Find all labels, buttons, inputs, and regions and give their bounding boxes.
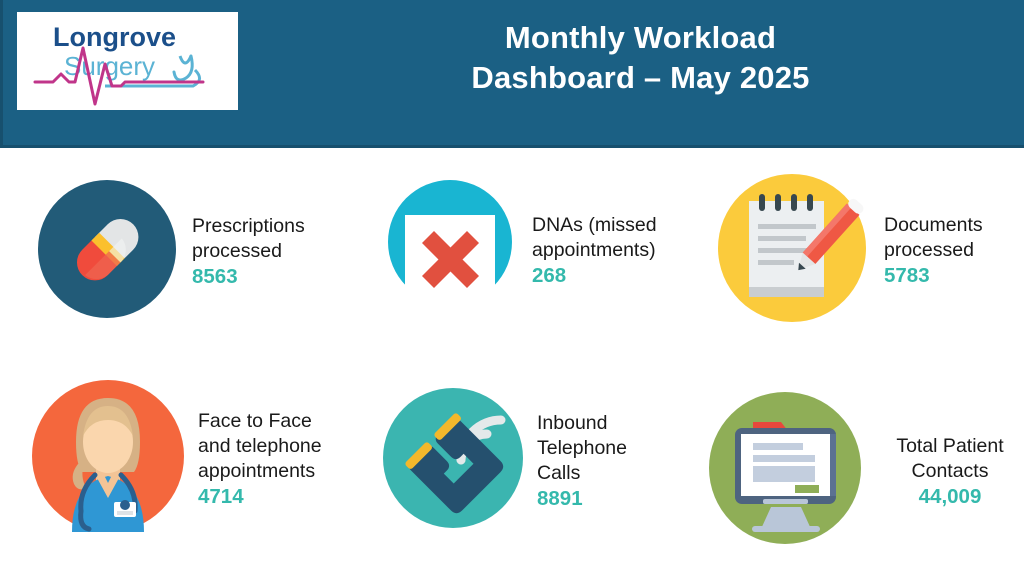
stat-label-line-1: Total Patient <box>882 434 1018 459</box>
header-banner: Longrove Surgery Monthly Workload Dashbo… <box>0 0 1024 148</box>
missed-appointment-x-icon <box>383 180 518 320</box>
stat-label-line-1: Documents <box>884 213 1018 238</box>
stats-grid: Prescriptions processed 8563 DNAs (misse… <box>0 148 1024 576</box>
stat-text-prescriptions: Prescriptions processed 8563 <box>192 214 368 289</box>
logo-word-longrove: Longrove <box>53 22 176 52</box>
page-title-line-2: Dashboard – May 2025 <box>268 58 1013 98</box>
monitor-icon <box>703 386 868 556</box>
stat-label-line-1: DNAs (missed <box>532 213 703 238</box>
stat-text-total-patient-contacts: Total Patient Contacts 44,009 <box>882 434 1018 509</box>
stat-card-total-patient-contacts: Total Patient Contacts 44,009 <box>703 386 1018 556</box>
stat-label-line-2: processed <box>192 239 368 264</box>
page-title-line-1: Monthly Workload <box>268 18 1013 58</box>
stat-text-inbound-calls: Inbound Telephone Calls 8891 <box>537 411 703 511</box>
stat-card-face-to-face: Face to Face and telephone appointments … <box>32 380 372 537</box>
stat-label-line-2: Telephone <box>537 436 703 461</box>
notepad-pencil-icon <box>718 174 866 327</box>
stat-text-dnas: DNAs (missed appointments) 268 <box>532 213 703 288</box>
page-title: Monthly Workload Dashboard – May 2025 <box>268 18 1013 98</box>
stat-value-inbound-calls: 8891 <box>537 486 703 511</box>
stat-card-documents: Documents processed 5783 <box>718 174 1018 327</box>
stat-label-line-3: appointments <box>198 459 372 484</box>
stat-card-inbound-calls: Inbound Telephone Calls 8891 <box>383 388 703 533</box>
dashboard-page: Longrove Surgery Monthly Workload Dashbo… <box>0 0 1024 576</box>
stat-value-prescriptions: 8563 <box>192 264 368 289</box>
longrove-surgery-logo-graphic: Longrove Surgery <box>17 12 238 110</box>
stat-label-line-2: appointments) <box>532 238 703 263</box>
stat-value-dnas: 268 <box>532 263 703 288</box>
stat-label-line-1: Face to Face <box>198 409 372 434</box>
stat-label-line-2: processed <box>884 238 1018 263</box>
telephone-icon <box>383 388 523 533</box>
pill-icon <box>38 180 176 323</box>
stat-label-line-2: and telephone <box>198 434 372 459</box>
practice-logo: Longrove Surgery <box>17 12 238 110</box>
stat-value-documents: 5783 <box>884 263 1018 288</box>
nurse-icon <box>32 380 184 537</box>
stat-label-line-3: Calls <box>537 461 703 486</box>
stat-text-documents: Documents processed 5783 <box>884 213 1018 288</box>
stat-text-face-to-face: Face to Face and telephone appointments … <box>198 409 372 509</box>
stat-label-line-1: Prescriptions <box>192 214 368 239</box>
stat-label-line-1: Inbound <box>537 411 703 436</box>
stat-card-dnas: DNAs (missed appointments) 268 <box>383 180 703 320</box>
stat-card-prescriptions: Prescriptions processed 8563 <box>38 180 368 323</box>
stat-value-face-to-face: 4714 <box>198 484 372 509</box>
stat-value-total-patient-contacts: 44,009 <box>882 484 1018 509</box>
stat-label-line-2: Contacts <box>882 459 1018 484</box>
